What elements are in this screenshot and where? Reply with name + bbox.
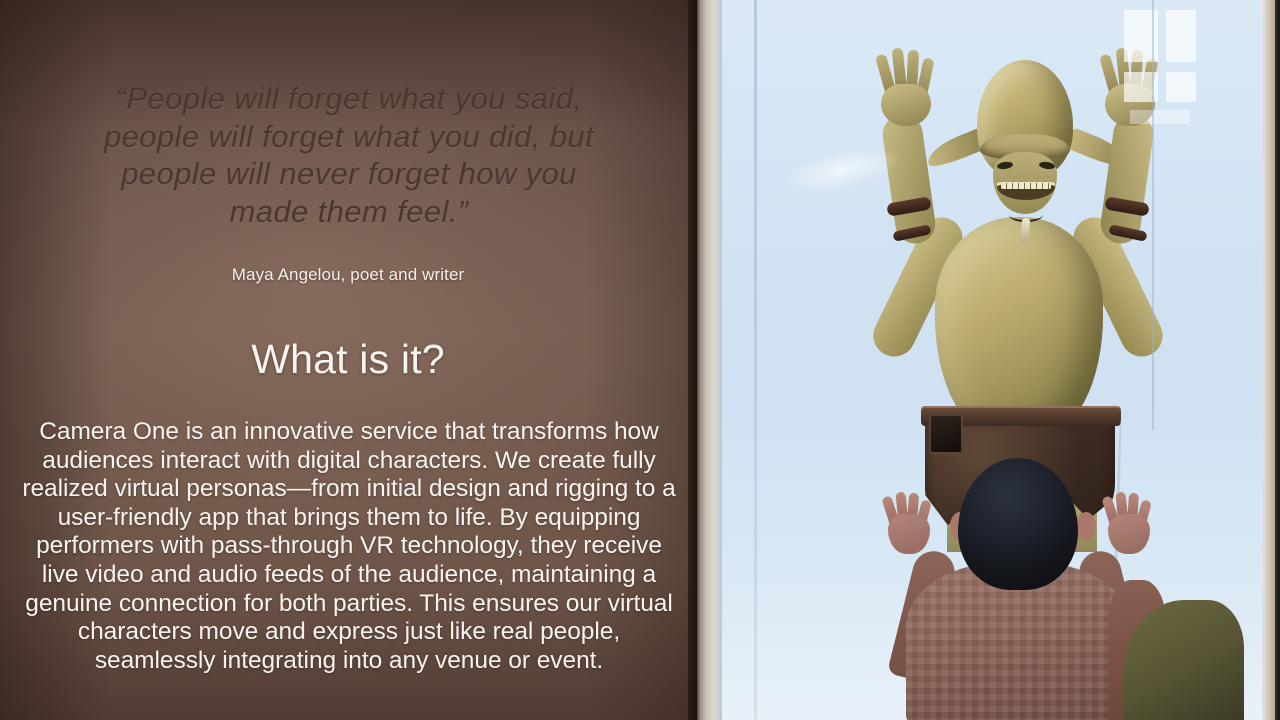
- screen-frame-left: [697, 0, 722, 720]
- child-hand-left: [882, 492, 934, 554]
- section-heading: What is it?: [48, 333, 648, 385]
- goblin-teeth: [1001, 183, 1051, 189]
- quote-attribution: Maya Angelou, poet and writer: [48, 264, 648, 286]
- child-ear-right: [1076, 512, 1096, 540]
- display-screen: [722, 0, 1262, 720]
- presentation-slide: “People will forget what you said, peopl…: [0, 0, 1280, 720]
- goblin-hand-left: [875, 48, 937, 120]
- goblin-forearm-right: [1098, 112, 1156, 246]
- child-hand-right: [1102, 492, 1154, 554]
- child-head: [958, 458, 1078, 590]
- screen-seam-line: [754, 0, 757, 720]
- body-paragraph: Camera One is an innovative service that…: [18, 418, 680, 675]
- screen-frame-right-edge: [1275, 0, 1280, 720]
- text-panel-content: “People will forget what you said, peopl…: [0, 0, 697, 720]
- text-panel: “People will forget what you said, peopl…: [0, 0, 697, 720]
- screen-seam-line-2: [1152, 0, 1154, 430]
- pull-quote: “People will forget what you said, peopl…: [54, 80, 644, 230]
- photograph: [697, 0, 1280, 720]
- goblin-necklace: [1009, 208, 1043, 252]
- window-reflection: [1124, 10, 1210, 130]
